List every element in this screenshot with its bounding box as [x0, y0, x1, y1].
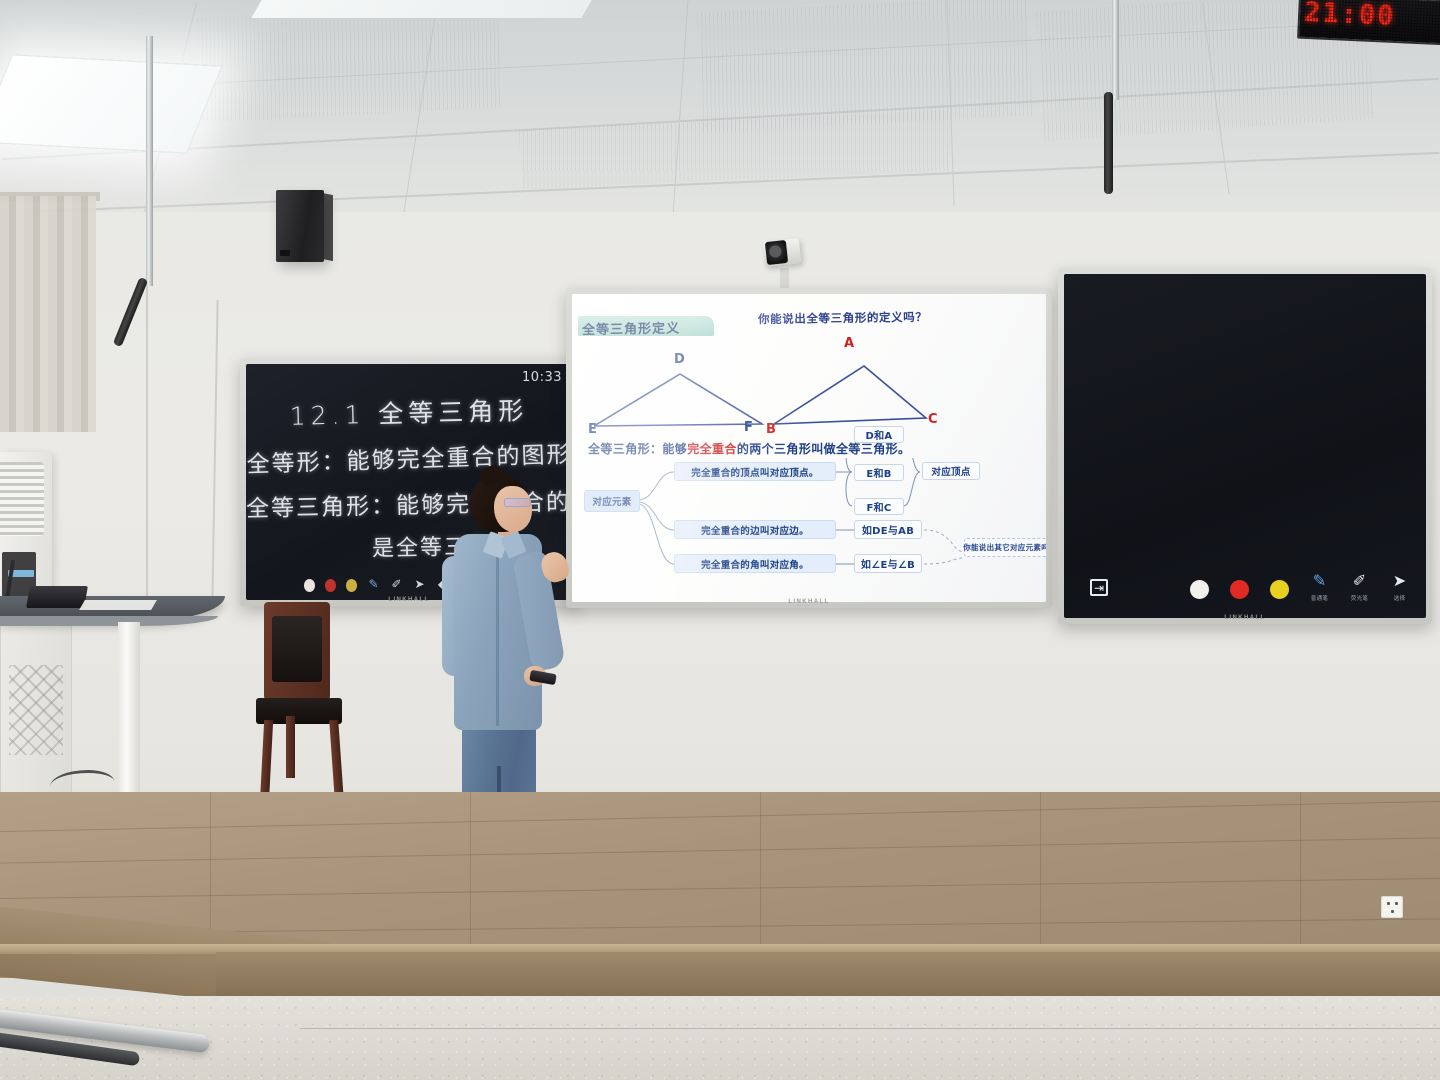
slide-title: 全等三角形定义 — [582, 317, 714, 338]
pen-icon[interactable]: ✎ — [367, 575, 380, 592]
desk-paper — [79, 600, 157, 610]
mindmap-angle-example: 如∠E与∠B — [854, 554, 922, 573]
ceiling — [0, 0, 1440, 235]
teacher-face — [494, 486, 532, 532]
right-board-screen[interactable]: ⇥ ✎ 普通笔 ✐ — [1064, 274, 1426, 618]
color-red-icon[interactable] — [325, 579, 336, 592]
definition-mid: 能够 — [662, 442, 687, 456]
desk-control-device[interactable] — [26, 586, 88, 608]
mindmap-pairs-label: 对应顶点 — [922, 462, 980, 480]
glasses-icon — [504, 498, 531, 507]
pen-button[interactable]: ✎ 普通笔 — [1310, 572, 1329, 602]
ceiling-mic-pole-right — [1112, 0, 1119, 100]
ceiling-microphone-right — [1104, 92, 1113, 194]
right-board-toolbar[interactable]: ✎ 普通笔 ✐ 荧光笔 ➤ 选择 ◆ 擦除 — [1190, 572, 1426, 602]
highlighter-icon[interactable]: ✐ — [390, 575, 403, 592]
vertex-label-F: F — [744, 420, 753, 435]
definition-sentence: 全等三角形：能够完全重合的两个三角形叫做全等三角形。 — [588, 440, 1046, 457]
select-icon[interactable]: ➤ — [1390, 572, 1409, 591]
vertex-label-D: D — [674, 352, 685, 367]
vertex-label-B: B — [766, 422, 776, 437]
vertex-label-C: C — [928, 412, 938, 427]
highlighter-icon[interactable]: ✐ — [1350, 572, 1369, 591]
teacher-shirt-placket — [496, 554, 499, 726]
highlighter-button[interactable]: ✐ 荧光笔 — [1350, 572, 1369, 602]
color-red-button[interactable] — [1230, 580, 1249, 602]
ceiling-light-strip — [251, 0, 598, 18]
select-label: 选择 — [1394, 594, 1406, 602]
floor-seam — [300, 1028, 1440, 1029]
definition-prefix: 全等三角形： — [588, 442, 662, 456]
center-panel-brand: LINKHALL — [566, 599, 1052, 605]
ceiling-grid — [0, 0, 1440, 235]
mindmap-diagram: 对应元素 完全重合的顶点叫对应顶点。 完全重合的边叫对应边。 完全重合的角叫对应… — [572, 458, 1046, 602]
mindmap-root: 对应元素 — [584, 490, 640, 512]
color-white-button[interactable] — [1190, 580, 1209, 602]
lesson-slide: 全等三角形定义 你能说出全等三角形的定义吗？ D E F A B C 全等三角形… — [572, 294, 1046, 602]
window-curtain — [0, 196, 96, 432]
vertex-label-A: A — [844, 336, 854, 351]
select-button[interactable]: ➤ 选择 — [1390, 572, 1409, 602]
pen-icon[interactable]: ✎ — [1310, 572, 1329, 591]
mindmap-pair-3: F和C — [854, 498, 904, 515]
wall-speaker — [276, 190, 324, 262]
led-dot-matrix-overlay — [1299, 0, 1440, 43]
wall-power-outlet[interactable] — [1381, 896, 1403, 918]
camera-mount — [780, 268, 789, 290]
triangle-diagram — [588, 340, 968, 440]
right-blackboard-panel[interactable]: ⇥ ✎ 普通笔 ✐ — [1058, 268, 1432, 624]
vertex-label-E: E — [588, 422, 597, 437]
led-marquee-sign: 21:00 — [1297, 0, 1440, 45]
select-icon[interactable]: ➤ — [413, 575, 426, 592]
ceiling-light-panel — [0, 54, 223, 153]
pen-label: 普通笔 — [1311, 594, 1328, 602]
cabinet-perforation — [9, 665, 63, 755]
right-panel-brand: LINKHALL — [1058, 615, 1432, 621]
ceiling-mic-pole-left — [146, 36, 153, 286]
mindmap-pair-1: D和A — [854, 426, 904, 443]
floor-texture — [0, 996, 1440, 1080]
mindmap-branch-vertex: 完全重合的顶点叫对应顶点。 — [674, 462, 836, 481]
color-yellow-icon[interactable] — [1270, 580, 1289, 599]
board-clock: 10:33 — [522, 370, 562, 385]
color-yellow-button[interactable] — [1270, 580, 1289, 602]
center-display-panel[interactable]: 全等三角形定义 你能说出全等三角形的定义吗？ D E F A B C 全等三角形… — [566, 288, 1052, 608]
camera-lens-icon — [765, 240, 788, 265]
slide-question: 你能说出全等三角形的定义吗？ — [758, 309, 928, 327]
definition-suffix: 的两个三角形叫做全等三角形。 — [737, 442, 911, 456]
color-white-icon[interactable] — [1190, 580, 1209, 599]
chair-leg — [286, 716, 295, 778]
classroom-floor — [0, 996, 1440, 1080]
mindmap-side-example: 如DE与AB — [854, 520, 922, 539]
color-white-icon[interactable] — [304, 579, 315, 592]
chalk-heading: 12.1 全等三角形 — [246, 390, 572, 434]
classroom-scene: 21:00 10:33 12.1 全等三角形 全等形：能够完全重合的图形 全等三… — [0, 0, 1440, 1080]
highlighter-label: 荧光笔 — [1351, 594, 1368, 602]
mindmap-callout: 你能说出其它对应元素吗？ — [964, 538, 1046, 557]
exit-icon[interactable]: ⇥ — [1090, 579, 1108, 596]
ac-vent — [0, 462, 44, 536]
center-board-screen[interactable]: 全等三角形定义 你能说出全等三角形的定义吗？ D E F A B C 全等三角形… — [572, 294, 1046, 602]
color-red-icon[interactable] — [1230, 580, 1249, 599]
mindmap-pair-2: E和B — [854, 464, 904, 481]
wall-cable — [146, 245, 148, 600]
definition-highlight: 完全重合 — [687, 442, 737, 456]
color-yellow-icon[interactable] — [346, 579, 357, 592]
chair-backrest-pad — [272, 616, 322, 682]
mindmap-branch-angle: 完全重合的角叫对应角。 — [674, 554, 836, 573]
mindmap-branch-side: 完全重合的边叫对应边。 — [674, 520, 836, 539]
